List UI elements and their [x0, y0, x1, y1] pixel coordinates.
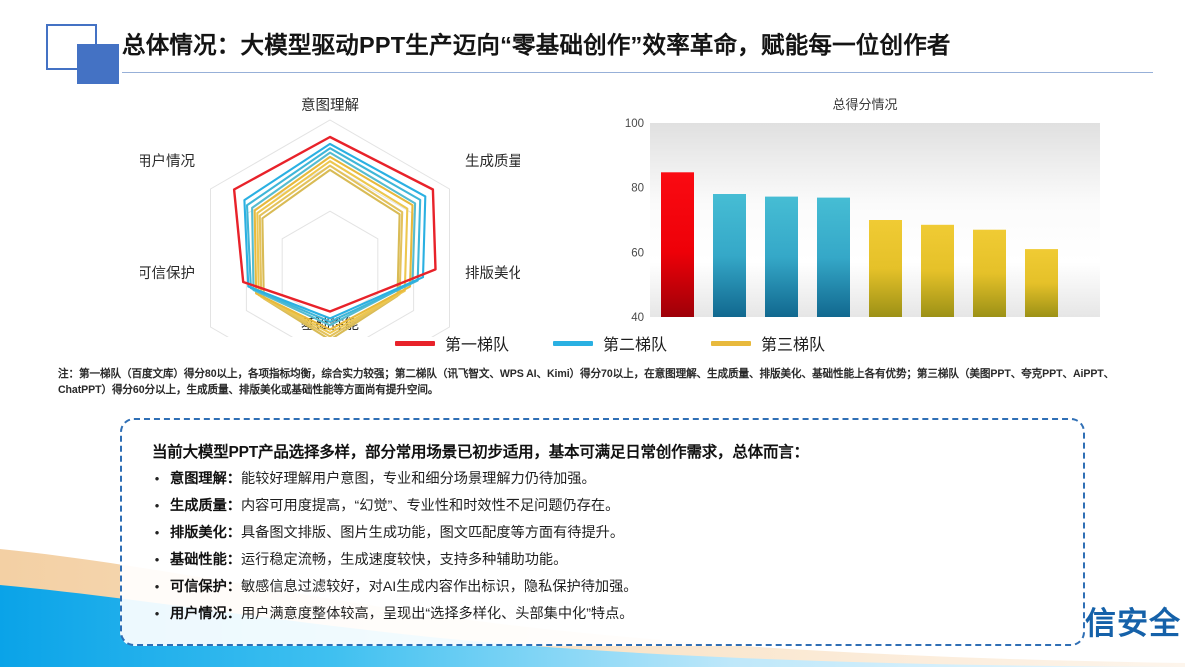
- bar-item-7: [1025, 249, 1058, 317]
- list-item: • 用户情况 ： 用户满意度整体较高，呈现出“选择多样化、头部集中化”特点。: [144, 603, 1061, 625]
- bullet-term: 基础性能: [170, 549, 227, 571]
- legend-swatch-tier3-icon: [711, 341, 751, 346]
- bullet-description: 能较好理解用户意图，专业和细分场景理解力仍待加强。: [241, 468, 596, 490]
- title-divider: [122, 72, 1153, 73]
- summary-bullet-list: • 意图理解 ： 能较好理解用户意图，专业和细分场景理解力仍待加强。 • 生成质…: [144, 468, 1061, 625]
- bullet-dot-icon: •: [144, 495, 170, 517]
- bar-chart: 总得分情况: [620, 92, 1110, 332]
- bullet-dot-icon: •: [144, 603, 170, 625]
- bullet-term: 生成质量: [170, 495, 227, 517]
- page-title: 总体情况：大模型驱动PPT生产迈向“零基础创作”效率革命，赋能每一位创作者: [122, 26, 1152, 60]
- bar-item-6: [973, 230, 1006, 317]
- bullet-description: 用户满意度整体较高，呈现出“选择多样化、头部集中化”特点。: [241, 603, 634, 625]
- bullet-separator: ：: [227, 495, 241, 517]
- bullet-description: 具备图文排版、图片生成功能，图文匹配度等方面有待提升。: [241, 522, 624, 544]
- bar-ytick-80: 80: [631, 183, 644, 195]
- bar-item-2: [765, 197, 798, 317]
- bullet-dot-icon: •: [144, 468, 170, 490]
- bullet-term: 意图理解: [170, 468, 227, 490]
- legend-item-tier2: 第二梯队: [553, 331, 667, 355]
- bullet-term: 可信保护: [170, 576, 227, 598]
- legend-item-tier3: 第三梯队: [711, 331, 825, 355]
- logo-filled-square: [77, 44, 119, 84]
- chart-legend: 第一梯队 第二梯队 第三梯队: [395, 330, 825, 356]
- bar-item-5: [921, 225, 954, 317]
- bullet-separator: ：: [227, 522, 241, 544]
- radar-axis-label-0: 意图理解: [301, 96, 359, 114]
- bullet-dot-icon: •: [144, 549, 170, 571]
- bullet-term: 用户情况: [170, 603, 227, 625]
- bar-item-1: [713, 194, 746, 317]
- bullet-description: 敏感信息过滤较好，对AI生成内容作出标识，隐私保护待加强。: [241, 576, 637, 598]
- bullet-separator: ：: [227, 603, 241, 625]
- legend-label-tier1: 第一梯队: [445, 331, 509, 355]
- legend-label-tier2: 第二梯队: [603, 331, 667, 355]
- bullet-term: 排版美化: [170, 522, 227, 544]
- bar-ytick-100: 100: [625, 118, 644, 130]
- bar-item-4: [869, 220, 902, 317]
- bullet-description: 运行稳定流畅，生成速度较快，支持多种辅助功能。: [241, 549, 567, 571]
- list-item: • 排版美化 ： 具备图文排版、图片生成功能，图文匹配度等方面有待提升。: [144, 522, 1061, 544]
- legend-swatch-tier1-icon: [395, 341, 435, 346]
- bullet-separator: ：: [227, 468, 241, 490]
- bullet-description: 内容可用度提高，“幻觉”、专业性和时效性不足问题仍存在。: [241, 495, 619, 517]
- chart-footnote: 注：第一梯队（百度文库）得分80以上，各项指标均衡，综合实力较强；第二梯队（讯飞…: [58, 366, 1118, 398]
- radar-axis-label-4: 可信保护: [140, 265, 195, 282]
- list-item: • 基础性能 ： 运行稳定流畅，生成速度较快，支持多种辅助功能。: [144, 549, 1061, 571]
- list-item: • 生成质量 ： 内容可用度提高，“幻觉”、专业性和时效性不足问题仍存在。: [144, 495, 1061, 517]
- legend-label-tier3: 第三梯队: [761, 331, 825, 355]
- bar-ytick-60: 60: [631, 247, 644, 259]
- slide-header: 总体情况：大模型驱动PPT生产迈向“零基础创作”效率革命，赋能每一位创作者: [0, 0, 1185, 92]
- bullet-dot-icon: •: [144, 576, 170, 598]
- bullet-separator: ：: [227, 549, 241, 571]
- legend-swatch-tier2-icon: [553, 341, 593, 346]
- summary-heading: 当前大模型PPT产品选择多样，部分常用场景已初步适用，基本可满足日常创作需求，总…: [152, 440, 1061, 462]
- radar-axis-label-5: 用户情况: [140, 153, 195, 170]
- two-squares-logo-icon: [46, 24, 126, 86]
- bullet-dot-icon: •: [144, 522, 170, 544]
- summary-panel: 当前大模型PPT产品选择多样，部分常用场景已初步适用，基本可满足日常创作需求，总…: [120, 418, 1085, 646]
- bar-item-0: [661, 172, 694, 317]
- watermark-logo-text: 信安全: [1085, 598, 1181, 643]
- list-item: • 可信保护 ： 敏感信息过滤较好，对AI生成内容作出标识，隐私保护待加强。: [144, 576, 1061, 598]
- radar-axis-label-2: 排版美化: [465, 265, 520, 282]
- bar-ytick-40: 40: [631, 312, 644, 324]
- radar-chart: 意图理解 生成质量 排版美化 基础性能 可信保护 用户情况: [140, 92, 520, 337]
- legend-item-tier1: 第一梯队: [395, 331, 509, 355]
- radar-axis-label-1: 生成质量: [465, 153, 520, 170]
- list-item: • 意图理解 ： 能较好理解用户意图，专业和细分场景理解力仍待加强。: [144, 468, 1061, 490]
- bullet-separator: ：: [227, 576, 241, 598]
- bar-item-3: [817, 198, 850, 317]
